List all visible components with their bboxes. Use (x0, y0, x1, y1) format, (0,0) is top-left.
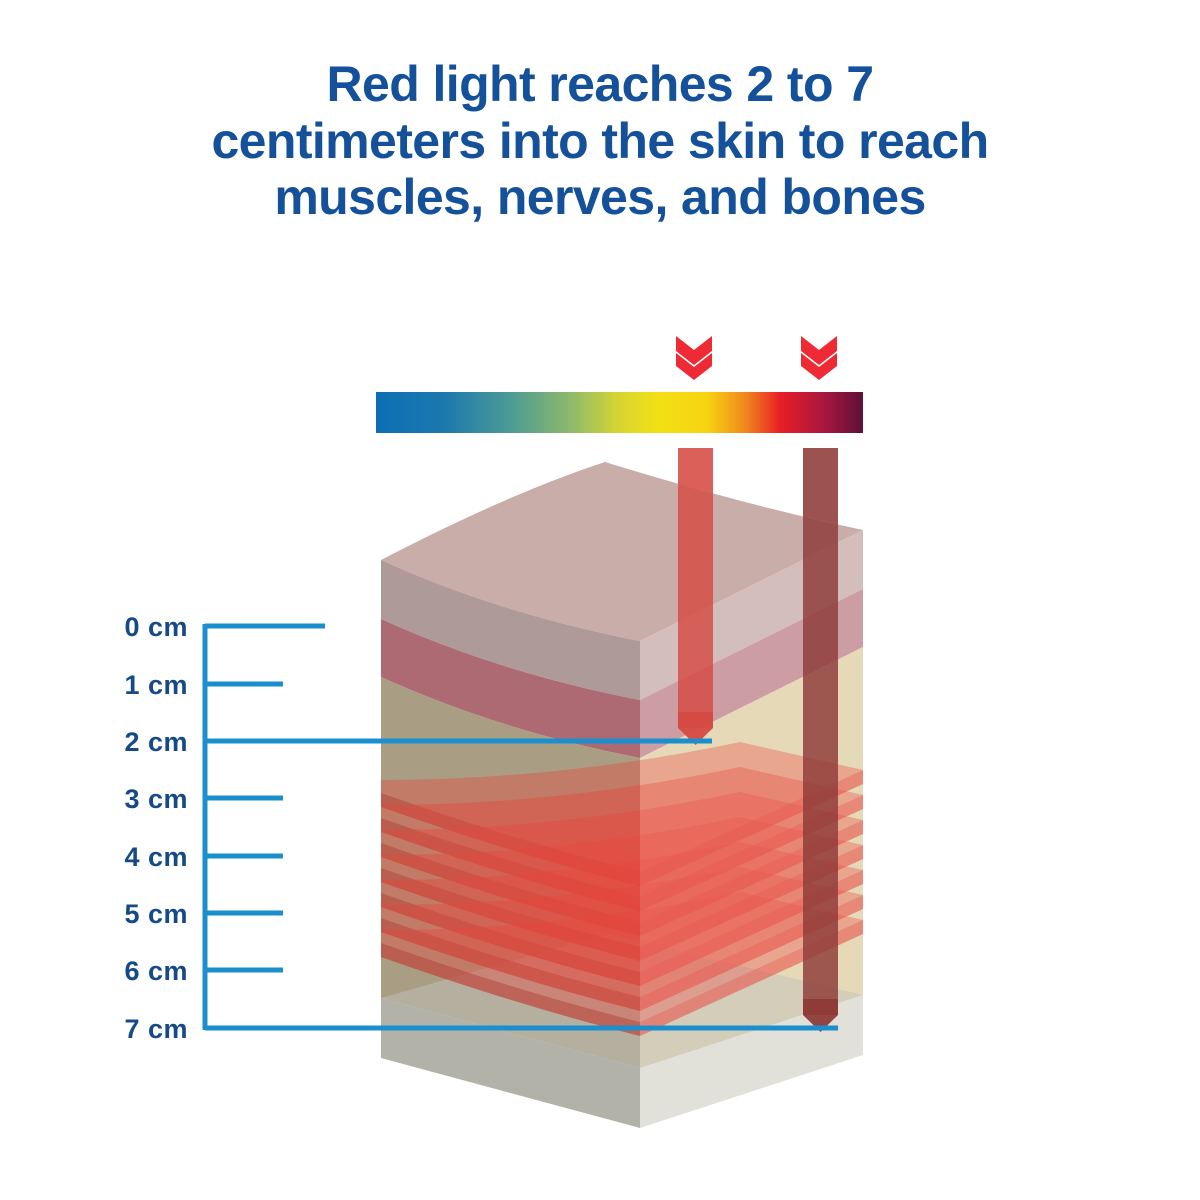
ruler-label-3cm: 3 cm (68, 784, 188, 815)
ruler-label-1cm: 1 cm (68, 670, 188, 701)
ruler-label-7cm: 7 cm (68, 1014, 188, 1045)
ruler-label-0cm: 0 cm (68, 612, 188, 643)
ruler-label-5cm: 5 cm (68, 899, 188, 930)
infographic-canvas: Red light reaches 2 to 7 centimeters int… (0, 0, 1200, 1200)
shallow-beam-chevron-down-icon (676, 336, 712, 380)
spectrum-bar (376, 392, 863, 433)
deep-beam-chevron-down-icon (801, 336, 837, 380)
spectrum-bar-group (376, 392, 863, 433)
ruler-label-4cm: 4 cm (68, 842, 188, 873)
deep-beam-inner-shaft (803, 448, 838, 1015)
ruler-label-6cm: 6 cm (68, 956, 188, 987)
ruler-label-2cm: 2 cm (68, 727, 188, 758)
